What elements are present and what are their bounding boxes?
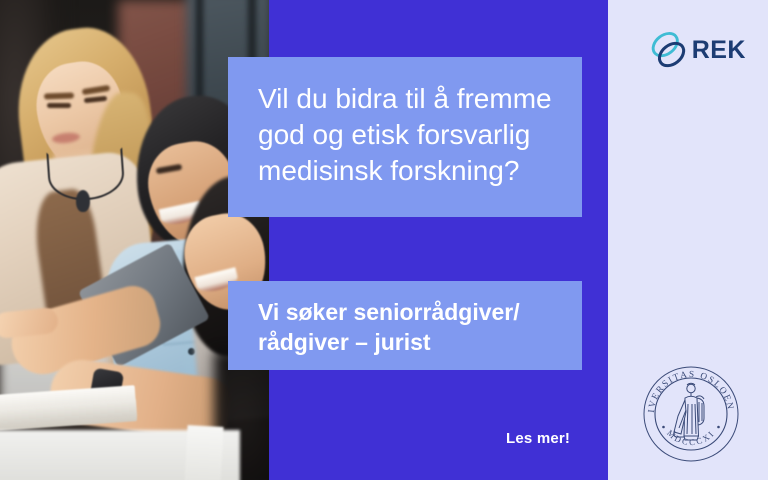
rek-logo: REK bbox=[650, 24, 746, 76]
job-title-box: Vi søker seniorrådgiver/ rådgiver – juri… bbox=[228, 281, 582, 370]
uio-seal-icon: UNIVERSITAS OSLOENSIS MDCCCXI bbox=[641, 364, 741, 464]
job-title-line-2: rådgiver – jurist bbox=[258, 327, 552, 357]
job-advert-banner: REK UNIVERSITAS OSLOENSIS MDCCCXI bbox=[0, 0, 768, 480]
photo-woman-eye bbox=[47, 103, 71, 108]
photo-paper bbox=[184, 425, 223, 480]
headline-line-3: medisinsk forskning? bbox=[258, 153, 552, 189]
rek-mark-icon bbox=[650, 27, 688, 73]
headline-box: Vil du bidra til å fremme god og etisk f… bbox=[228, 57, 582, 217]
headline-line-2: god og etisk forsvarlig bbox=[258, 117, 552, 153]
photo-woman-eyebrow bbox=[44, 92, 74, 99]
photo-woman-pendant bbox=[76, 190, 90, 212]
read-more-link[interactable]: Les mer! bbox=[506, 430, 570, 447]
rek-wordmark: REK bbox=[692, 38, 746, 63]
headline-line-1: Vil du bidra til å fremme bbox=[258, 81, 552, 117]
job-title-line-1: Vi søker seniorrådgiver/ bbox=[258, 297, 552, 327]
